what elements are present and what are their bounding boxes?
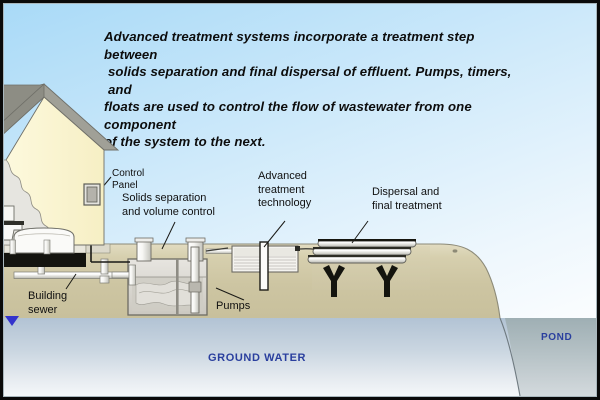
- label-control-panel: Control Panel: [112, 168, 144, 191]
- water-table-marker-icon: [5, 316, 19, 326]
- label-solids-separation: Solids separation and volume control: [122, 192, 215, 219]
- control-panel-box: [84, 184, 100, 205]
- diagram-canvas: Advanced treatment systems incorporate a…: [0, 0, 600, 400]
- label-ground-water: GROUND WATER: [208, 352, 306, 364]
- label-dispersal: Dispersal and final treatment: [372, 186, 442, 213]
- label-pond: POND: [541, 332, 572, 343]
- label-advanced-treatment: Advanced treatment technology: [258, 170, 311, 211]
- label-building-sewer: Building sewer: [28, 290, 67, 317]
- label-pumps: Pumps: [216, 300, 250, 314]
